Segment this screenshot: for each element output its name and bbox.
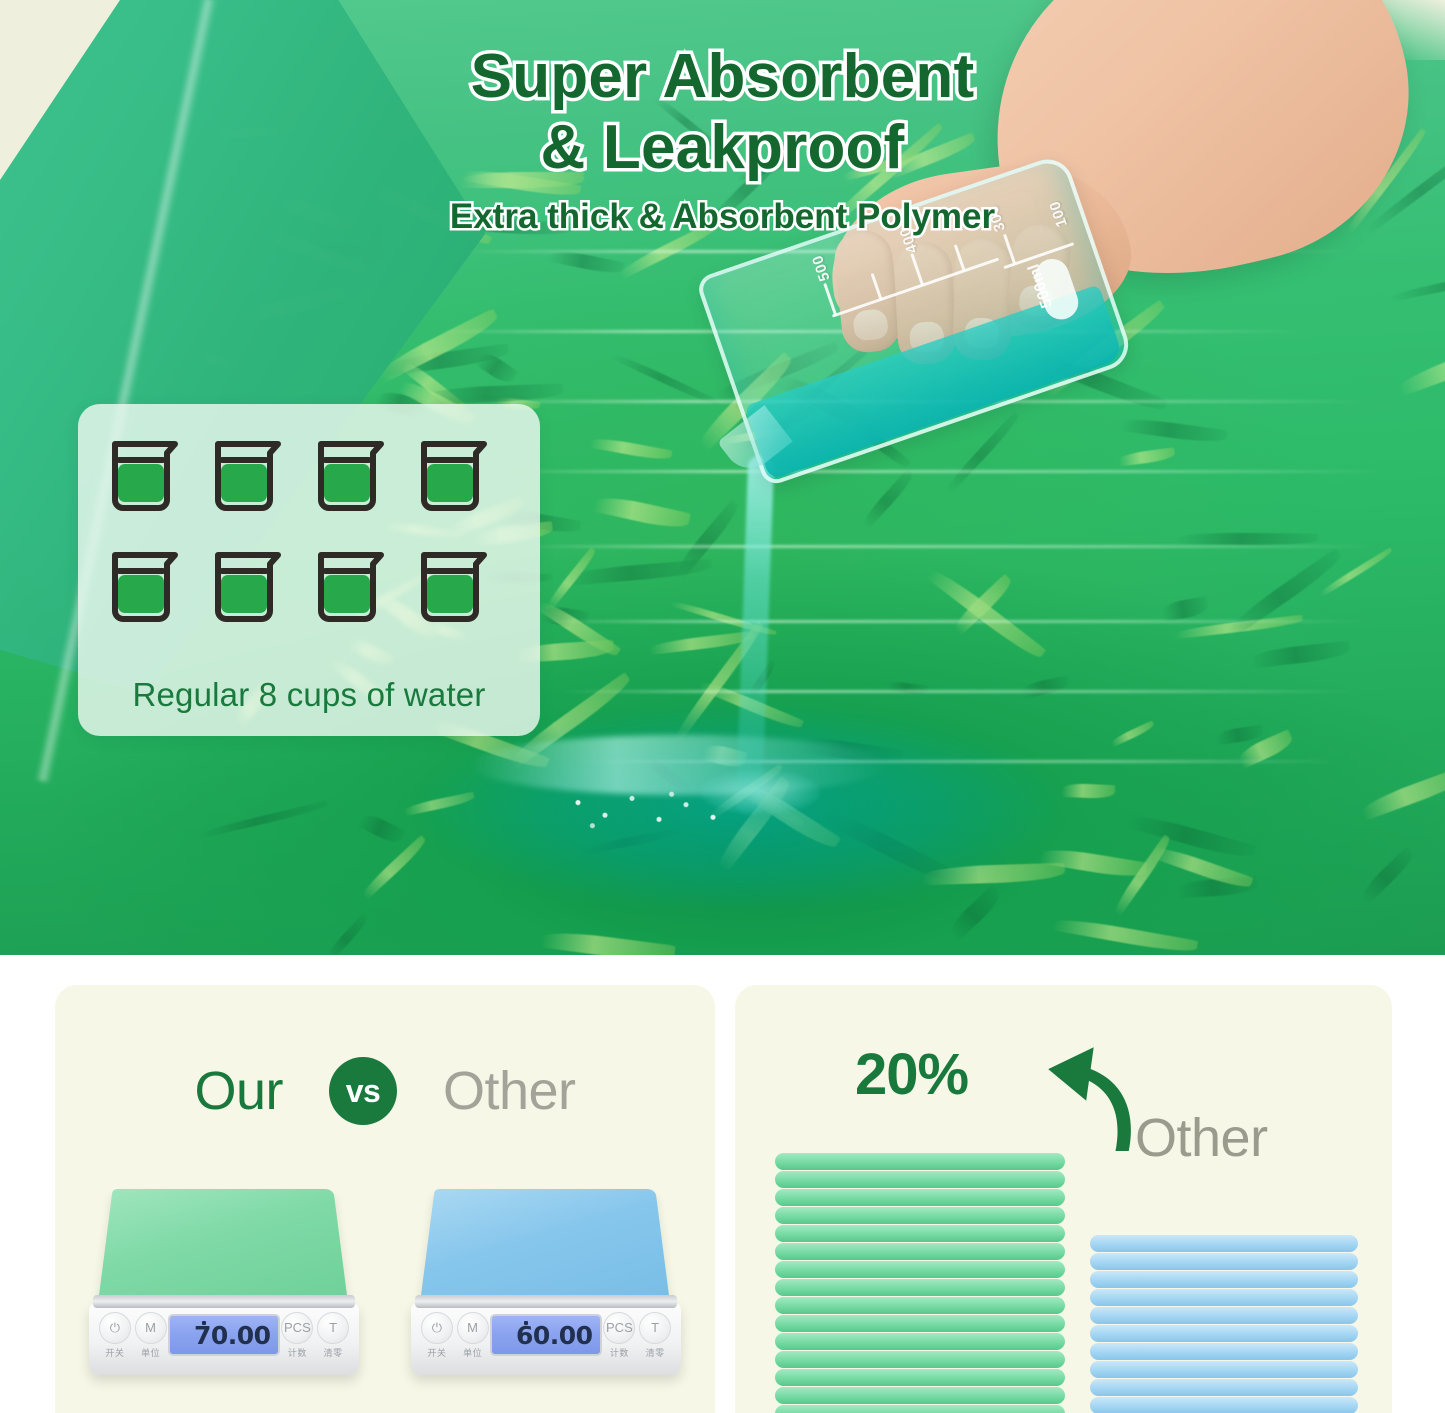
leaf-stroke bbox=[887, 680, 929, 696]
scale-button-label: 单位 bbox=[141, 1346, 160, 1359]
beaker-cup-icon bbox=[108, 543, 199, 636]
scale-display: 60.00 bbox=[490, 1314, 601, 1356]
leaf-stroke bbox=[325, 913, 370, 955]
our-scale: ⏻开关M单位70.00PCS计数T清零 bbox=[89, 1153, 359, 1383]
beaker-cup-icon bbox=[314, 543, 405, 636]
leaf-stroke bbox=[1126, 811, 1256, 862]
scale-button-label: 开关 bbox=[105, 1346, 124, 1359]
vs-badge: vs bbox=[329, 1057, 397, 1125]
pad-layer bbox=[1090, 1361, 1358, 1378]
scale-platform-lip bbox=[93, 1295, 355, 1308]
pad-layer bbox=[775, 1387, 1065, 1404]
scale-button-计数[interactable]: PCS计数 bbox=[602, 1312, 638, 1359]
hero-headline-line1: Super Absorbent bbox=[0, 42, 1445, 113]
pad-layer bbox=[775, 1225, 1065, 1242]
pad-layer bbox=[775, 1351, 1065, 1368]
pad-layer bbox=[775, 1207, 1065, 1224]
pad-layer bbox=[775, 1405, 1065, 1413]
scale-display: 70.00 bbox=[168, 1314, 279, 1356]
fabric-crease bbox=[560, 690, 1360, 693]
pad-layer bbox=[775, 1333, 1065, 1350]
other-label: Other bbox=[443, 1060, 576, 1122]
scale-button-label: 单位 bbox=[463, 1346, 482, 1359]
leaf-stroke bbox=[1358, 847, 1417, 904]
scale-button-glyph[interactable]: T bbox=[317, 1312, 349, 1344]
pad-layer bbox=[775, 1315, 1065, 1332]
lower-section: Our vs Other ⏻开关M单位70.00PCS计数T清零⏻开关M单位60… bbox=[0, 955, 1445, 1413]
leaf-stroke bbox=[1358, 764, 1445, 820]
other-scale: ⏻开关M单位60.00PCS计数T清零 bbox=[411, 1153, 681, 1383]
scale-control-face: ⏻开关M单位60.00PCS计数T清零 bbox=[419, 1313, 673, 1357]
pad-layer bbox=[1090, 1343, 1358, 1360]
pad-layer bbox=[775, 1279, 1065, 1296]
percent-label: 20% bbox=[855, 1041, 968, 1108]
beaker-cup-icon bbox=[211, 543, 302, 636]
scale-body: ⏻开关M单位60.00PCS计数T清零 bbox=[411, 1303, 681, 1375]
pad-layer bbox=[1090, 1397, 1358, 1413]
fabric-crease bbox=[540, 620, 1370, 623]
scale-button-label: 开关 bbox=[427, 1346, 446, 1359]
scale-button-清零[interactable]: T清零 bbox=[637, 1312, 673, 1359]
scale-platform-lip bbox=[415, 1295, 677, 1308]
scale-button-label: 计数 bbox=[288, 1346, 307, 1359]
scale-button-glyph[interactable]: M bbox=[457, 1312, 489, 1344]
curved-arrow-icon bbox=[1035, 1039, 1143, 1151]
hero-photo-banner: 500 400 300 100 500ml Super Absorbent & … bbox=[0, 0, 1445, 955]
scale-body: ⏻开关M单位70.00PCS计数T清零 bbox=[89, 1303, 359, 1375]
leaf-stroke bbox=[927, 565, 1047, 662]
other-pad-stack bbox=[1090, 1235, 1358, 1413]
scale-button-计数[interactable]: PCS计数 bbox=[280, 1312, 316, 1359]
other-label-thickness: Other bbox=[1135, 1107, 1268, 1169]
beaker-cup-icon bbox=[314, 432, 405, 525]
scale-button-单位[interactable]: M单位 bbox=[455, 1312, 491, 1359]
leaf-stroke bbox=[1111, 834, 1174, 916]
water-sheen bbox=[470, 735, 890, 795]
scale-button-清零[interactable]: T清零 bbox=[315, 1312, 351, 1359]
hero-subheadline: Extra thick & Absorbent Polymer bbox=[0, 197, 1445, 237]
scale-button-glyph[interactable]: M bbox=[135, 1312, 167, 1344]
beaker-cup-icon bbox=[417, 432, 508, 525]
scale-button-label: 清零 bbox=[324, 1346, 343, 1359]
scale-button-label: 计数 bbox=[610, 1346, 629, 1359]
beaker-cup-icon bbox=[211, 432, 302, 525]
leaf-stroke bbox=[1021, 675, 1069, 698]
leaf-stroke bbox=[1160, 596, 1208, 621]
pad-layer bbox=[775, 1189, 1065, 1206]
scales-row: ⏻开关M单位70.00PCS计数T清零⏻开关M单位60.00PCS计数T清零 bbox=[55, 1153, 715, 1383]
scale-button-开关[interactable]: ⏻开关 bbox=[97, 1312, 133, 1359]
pad-layer bbox=[775, 1153, 1065, 1170]
pad-layer bbox=[1090, 1289, 1358, 1306]
pad-layer bbox=[1090, 1271, 1358, 1288]
display-indicator-dot bbox=[524, 1321, 528, 1325]
beaker-icon-grid bbox=[108, 432, 508, 636]
pad-layer bbox=[775, 1297, 1065, 1314]
leaf-stroke bbox=[1177, 533, 1318, 546]
hero-headline-line2: & Leakproof bbox=[0, 113, 1445, 184]
our-pad-stack bbox=[775, 1153, 1065, 1413]
cups-caption: Regular 8 cups of water bbox=[78, 676, 540, 714]
pad-layer bbox=[775, 1171, 1065, 1188]
weight-comparison-panel: Our vs Other ⏻开关M单位70.00PCS计数T清零⏻开关M单位60… bbox=[55, 985, 715, 1413]
pad-on-scale bbox=[419, 1189, 671, 1311]
scale-button-开关[interactable]: ⏻开关 bbox=[419, 1312, 455, 1359]
our-label: Our bbox=[194, 1060, 283, 1122]
pad-layer bbox=[1090, 1253, 1358, 1270]
cups-info-card: Regular 8 cups of water bbox=[78, 404, 540, 736]
thickness-comparison-panel: 20% Other bbox=[735, 985, 1392, 1413]
scale-button-label: 清零 bbox=[646, 1346, 665, 1359]
beaker-cup-icon bbox=[417, 543, 508, 636]
leaf-stroke bbox=[358, 811, 406, 847]
scale-button-glyph[interactable]: ⏻ bbox=[421, 1312, 453, 1344]
pad-layer bbox=[1090, 1235, 1358, 1252]
scale-button-glyph[interactable]: T bbox=[639, 1312, 671, 1344]
versus-row: Our vs Other bbox=[55, 1057, 715, 1125]
pad-layer bbox=[775, 1261, 1065, 1278]
leaf-stroke bbox=[1249, 640, 1350, 667]
pad-layer bbox=[775, 1243, 1065, 1260]
scale-button-glyph[interactable]: PCS bbox=[281, 1312, 313, 1344]
hero-text-block: Super Absorbent & Leakproof Extra thick … bbox=[0, 42, 1445, 237]
pad-layer bbox=[1090, 1325, 1358, 1342]
scale-button-单位[interactable]: M单位 bbox=[133, 1312, 169, 1359]
leaf-stroke bbox=[593, 493, 691, 532]
display-indicator-dot bbox=[202, 1321, 206, 1325]
leaf-stroke bbox=[197, 801, 328, 839]
leaf-stroke bbox=[1110, 720, 1156, 747]
scale-control-face: ⏻开关M单位70.00PCS计数T清零 bbox=[97, 1313, 351, 1357]
scale-button-glyph[interactable]: ⏻ bbox=[99, 1312, 131, 1344]
pad-layer bbox=[1090, 1379, 1358, 1396]
beaker-cup-icon bbox=[108, 432, 199, 525]
fabric-crease bbox=[520, 545, 1380, 548]
scale-button-glyph[interactable]: PCS bbox=[603, 1312, 635, 1344]
pad-layer bbox=[775, 1369, 1065, 1386]
pad-layer bbox=[1090, 1307, 1358, 1324]
pad-on-scale bbox=[97, 1189, 349, 1311]
leaf-stroke bbox=[589, 436, 672, 463]
